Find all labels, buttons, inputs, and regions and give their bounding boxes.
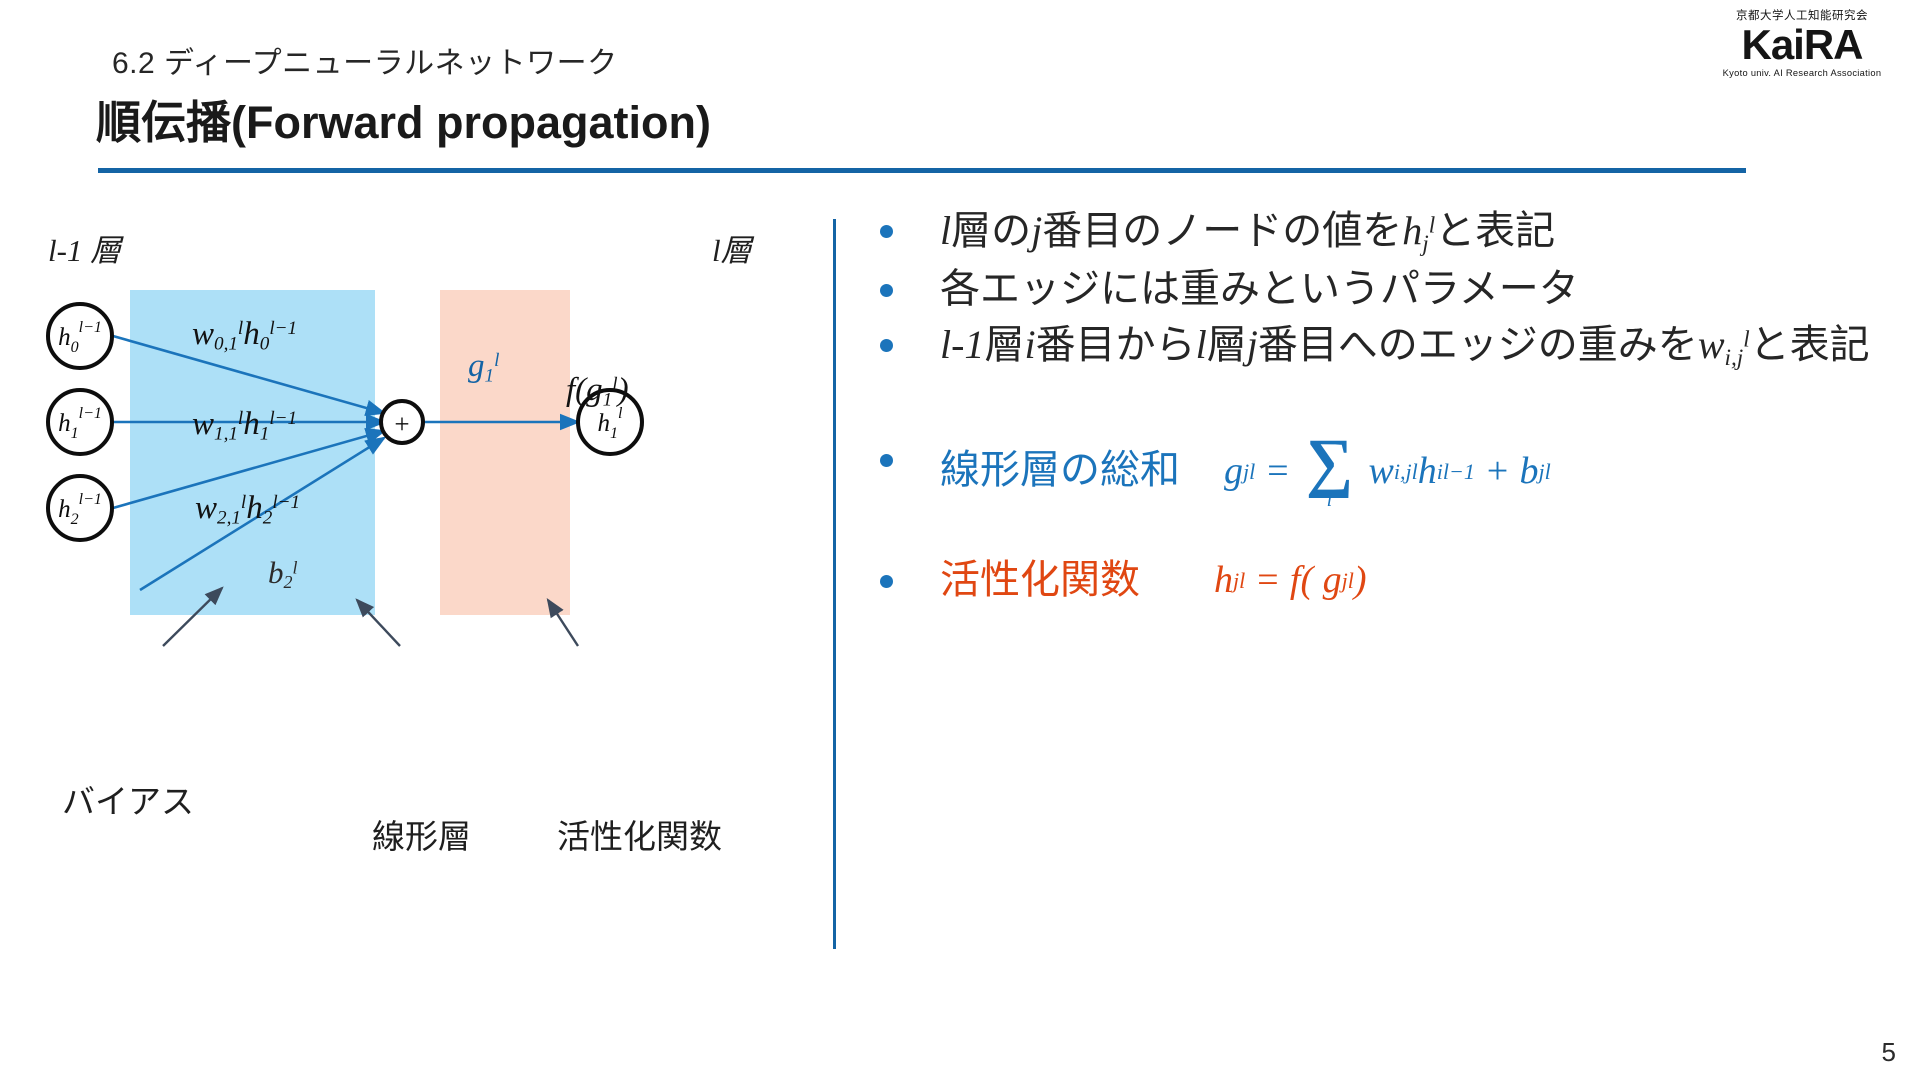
caption-linear-layer: 線形層 [372, 810, 471, 858]
g-math-label: g1l [468, 348, 499, 387]
activation-layer-box [440, 290, 570, 615]
title-underline-rule [98, 168, 1746, 173]
explanation-column: l層のj番目のノードの値をhjlと表記 各エッジには重みというパラメータ l-1… [880, 206, 1880, 611]
bullet-dot-icon [880, 225, 893, 238]
current-layer-label: l層 [712, 225, 752, 270]
formula-linear-sum-expression: gjl = ∑i wi,jlhil−1 + bjl [1224, 435, 1551, 507]
formula-activation-label: 活性化関数 [940, 556, 1140, 606]
bullet-weight-notation: l-1層i番目からl層j番目へのエッジの重みをwi,jlと表記 [880, 320, 1880, 373]
kaira-logo: 京都大学人工知能研究会 KaiRA Kyoto univ. AI Researc… [1702, 10, 1902, 78]
spacer [880, 379, 1880, 435]
edge-label-w01: w0,1lh0l−1 [192, 316, 297, 355]
input-node-1: h1l−1 [48, 390, 112, 454]
input-node-0: h0l−1 [48, 304, 112, 368]
bullet-node-notation-text: l層のj番目のノードの値をhjlと表記 [940, 206, 1880, 259]
bullet-dot-icon [880, 339, 893, 352]
formula-activation-expression: hjl = f( gjl) [1214, 557, 1367, 604]
bullet-dot-icon [880, 575, 893, 588]
section-kicker: 6.2 ディープニューラルネットワーク [112, 38, 618, 82]
page-number: 5 [1882, 1037, 1896, 1068]
f-of-g-math-label: f(g1l) [566, 372, 629, 411]
formula-activation: 活性化関数 hjl = f( gjl) [880, 556, 1880, 606]
bullet-dot-icon [880, 454, 893, 467]
caption-bias: バイアス [62, 775, 194, 823]
formula-linear-sum: 線形層の総和 gjl = ∑i wi,jlhil−1 + bjl [880, 435, 1880, 507]
edge-label-w21: w2,1lh2l−1 [195, 490, 300, 529]
column-divider [833, 219, 836, 949]
slide-header: 6.2 ディープニューラルネットワーク 順伝播(Forward propagat… [0, 0, 1920, 180]
bullet-weight-notation-text: l-1層i番目からl層j番目へのエッジの重みをwi,jlと表記 [940, 320, 1880, 373]
spacer [880, 514, 1880, 556]
logo-wordmark: KaiRA [1702, 24, 1902, 66]
bullet-edge-weight-text: 各エッジには重みというパラメータ [940, 265, 1880, 315]
bias-math-label: b2l [268, 555, 297, 593]
bullet-dot-icon [880, 284, 893, 297]
sum-node: + [381, 401, 423, 443]
page-title: 順伝播(Forward propagation) [96, 86, 711, 151]
bullet-node-notation: l層のj番目のノードの値をhjlと表記 [880, 206, 1880, 259]
edge-label-w11: w1,1lh1l−1 [192, 406, 297, 445]
svg-text:+: + [394, 409, 409, 439]
logo-english-name: Kyoto univ. AI Research Association [1702, 68, 1902, 78]
input-node-2: h2l−1 [48, 476, 112, 540]
caption-activation-function: 活性化関数 [557, 810, 722, 858]
formula-linear-sum-label: 線形層の総和 [940, 446, 1180, 496]
previous-layer-label: l-1 層 [48, 225, 121, 270]
forward-propagation-diagram: h0l−1 h1l−1 h2l−1 + h1l [0, 190, 830, 890]
bullet-edge-weight: 各エッジには重みというパラメータ [880, 265, 1880, 315]
